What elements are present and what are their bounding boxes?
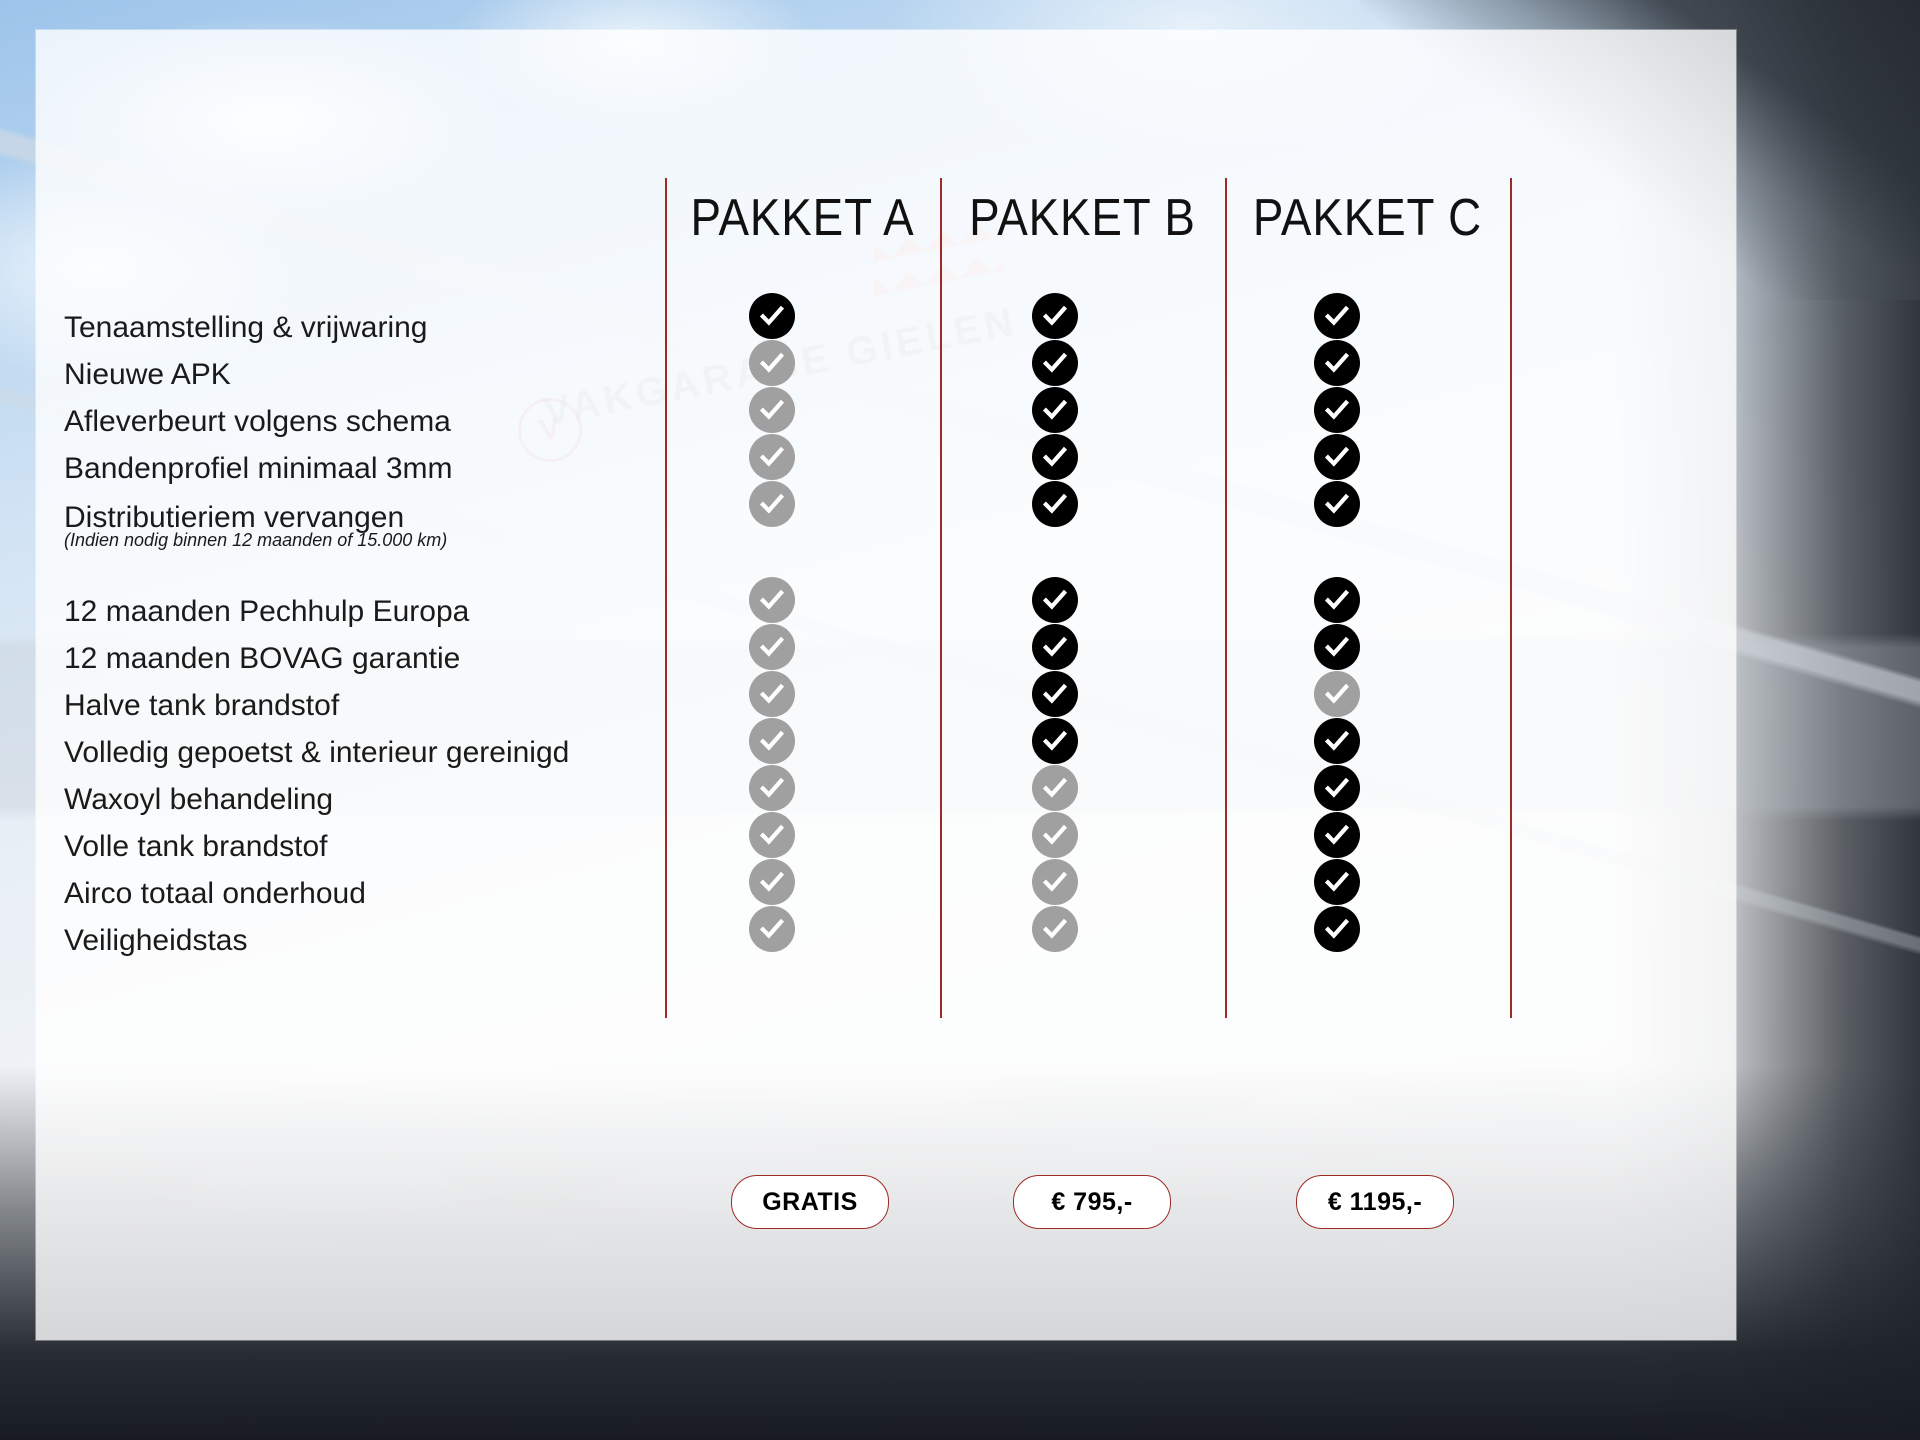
check-icon-b-included xyxy=(1032,624,1078,670)
check-icon-a-excluded xyxy=(749,481,795,527)
column-header-c: PAKKET C xyxy=(1242,188,1493,248)
column-divider-4 xyxy=(1510,178,1512,1018)
column-header-a: PAKKET A xyxy=(682,188,924,248)
comparison-card: PAKKET APAKKET BPAKKET CTenaamstelling &… xyxy=(36,30,1736,1340)
check-icon-c-included xyxy=(1314,577,1360,623)
check-icon-c-included xyxy=(1314,293,1360,339)
check-icon-b-included xyxy=(1032,481,1078,527)
feature-label: Afleverbeurt volgens schema xyxy=(64,407,451,437)
feature-label: Bandenprofiel minimaal 3mm xyxy=(64,454,453,484)
check-icon-b-included xyxy=(1032,577,1078,623)
check-icon-b-excluded xyxy=(1032,812,1078,858)
check-icon-c-included xyxy=(1314,434,1360,480)
feature-note: (Indien nodig binnen 12 maanden of 15.00… xyxy=(64,531,447,549)
check-icon-c-included xyxy=(1314,906,1360,952)
check-icon-a-excluded xyxy=(749,434,795,480)
feature-label: Airco totaal onderhoud xyxy=(64,879,366,909)
check-icon-a-excluded xyxy=(749,859,795,905)
column-divider-2 xyxy=(940,178,942,1018)
check-icon-c-included xyxy=(1314,765,1360,811)
check-icon-c-excluded xyxy=(1314,671,1360,717)
feature-label: Volle tank brandstof xyxy=(64,832,328,862)
price-pill-c[interactable]: € 1195,- xyxy=(1296,1175,1454,1229)
check-icon-a-excluded xyxy=(749,340,795,386)
check-icon-b-included xyxy=(1032,434,1078,480)
feature-label: Tenaamstelling & vrijwaring xyxy=(64,313,428,343)
check-icon-a-excluded xyxy=(749,624,795,670)
check-icon-a-excluded xyxy=(749,577,795,623)
column-divider-1 xyxy=(665,178,667,1018)
column-divider-3 xyxy=(1225,178,1227,1018)
check-icon-b-included xyxy=(1032,387,1078,433)
check-icon-c-included xyxy=(1314,812,1360,858)
check-icon-b-excluded xyxy=(1032,859,1078,905)
feature-label: Waxoyl behandeling xyxy=(64,785,333,815)
check-icon-a-excluded xyxy=(749,387,795,433)
check-icon-a-excluded xyxy=(749,812,795,858)
feature-label: Veiligheidstas xyxy=(64,926,247,956)
check-icon-c-included xyxy=(1314,387,1360,433)
check-icon-c-included xyxy=(1314,340,1360,386)
check-icon-b-excluded xyxy=(1032,906,1078,952)
check-icon-b-included xyxy=(1032,718,1078,764)
check-icon-c-included xyxy=(1314,718,1360,764)
feature-label: Volledig gepoetst & interieur gereinigd xyxy=(64,738,569,768)
feature-label: 12 maanden Pechhulp Europa xyxy=(64,597,469,627)
column-header-b: PAKKET B xyxy=(957,188,1208,248)
feature-label: Nieuwe APK xyxy=(64,360,231,390)
feature-label: Distributieriem vervangen xyxy=(64,503,404,533)
check-icon-c-included xyxy=(1314,624,1360,670)
check-icon-a-excluded xyxy=(749,671,795,717)
check-icon-a-excluded xyxy=(749,765,795,811)
price-pill-a[interactable]: GRATIS xyxy=(731,1175,889,1229)
check-icon-c-included xyxy=(1314,859,1360,905)
check-icon-b-included xyxy=(1032,340,1078,386)
price-pill-b[interactable]: € 795,- xyxy=(1013,1175,1171,1229)
check-icon-b-excluded xyxy=(1032,765,1078,811)
check-icon-a-excluded xyxy=(749,906,795,952)
check-icon-a-excluded xyxy=(749,718,795,764)
feature-label: 12 maanden BOVAG garantie xyxy=(64,644,460,674)
check-icon-c-included xyxy=(1314,481,1360,527)
check-icon-b-included xyxy=(1032,293,1078,339)
check-icon-b-included xyxy=(1032,671,1078,717)
package-comparison-table: PAKKET APAKKET BPAKKET CTenaamstelling &… xyxy=(36,30,1736,1340)
feature-label: Halve tank brandstof xyxy=(64,691,339,721)
check-icon-a-included xyxy=(749,293,795,339)
